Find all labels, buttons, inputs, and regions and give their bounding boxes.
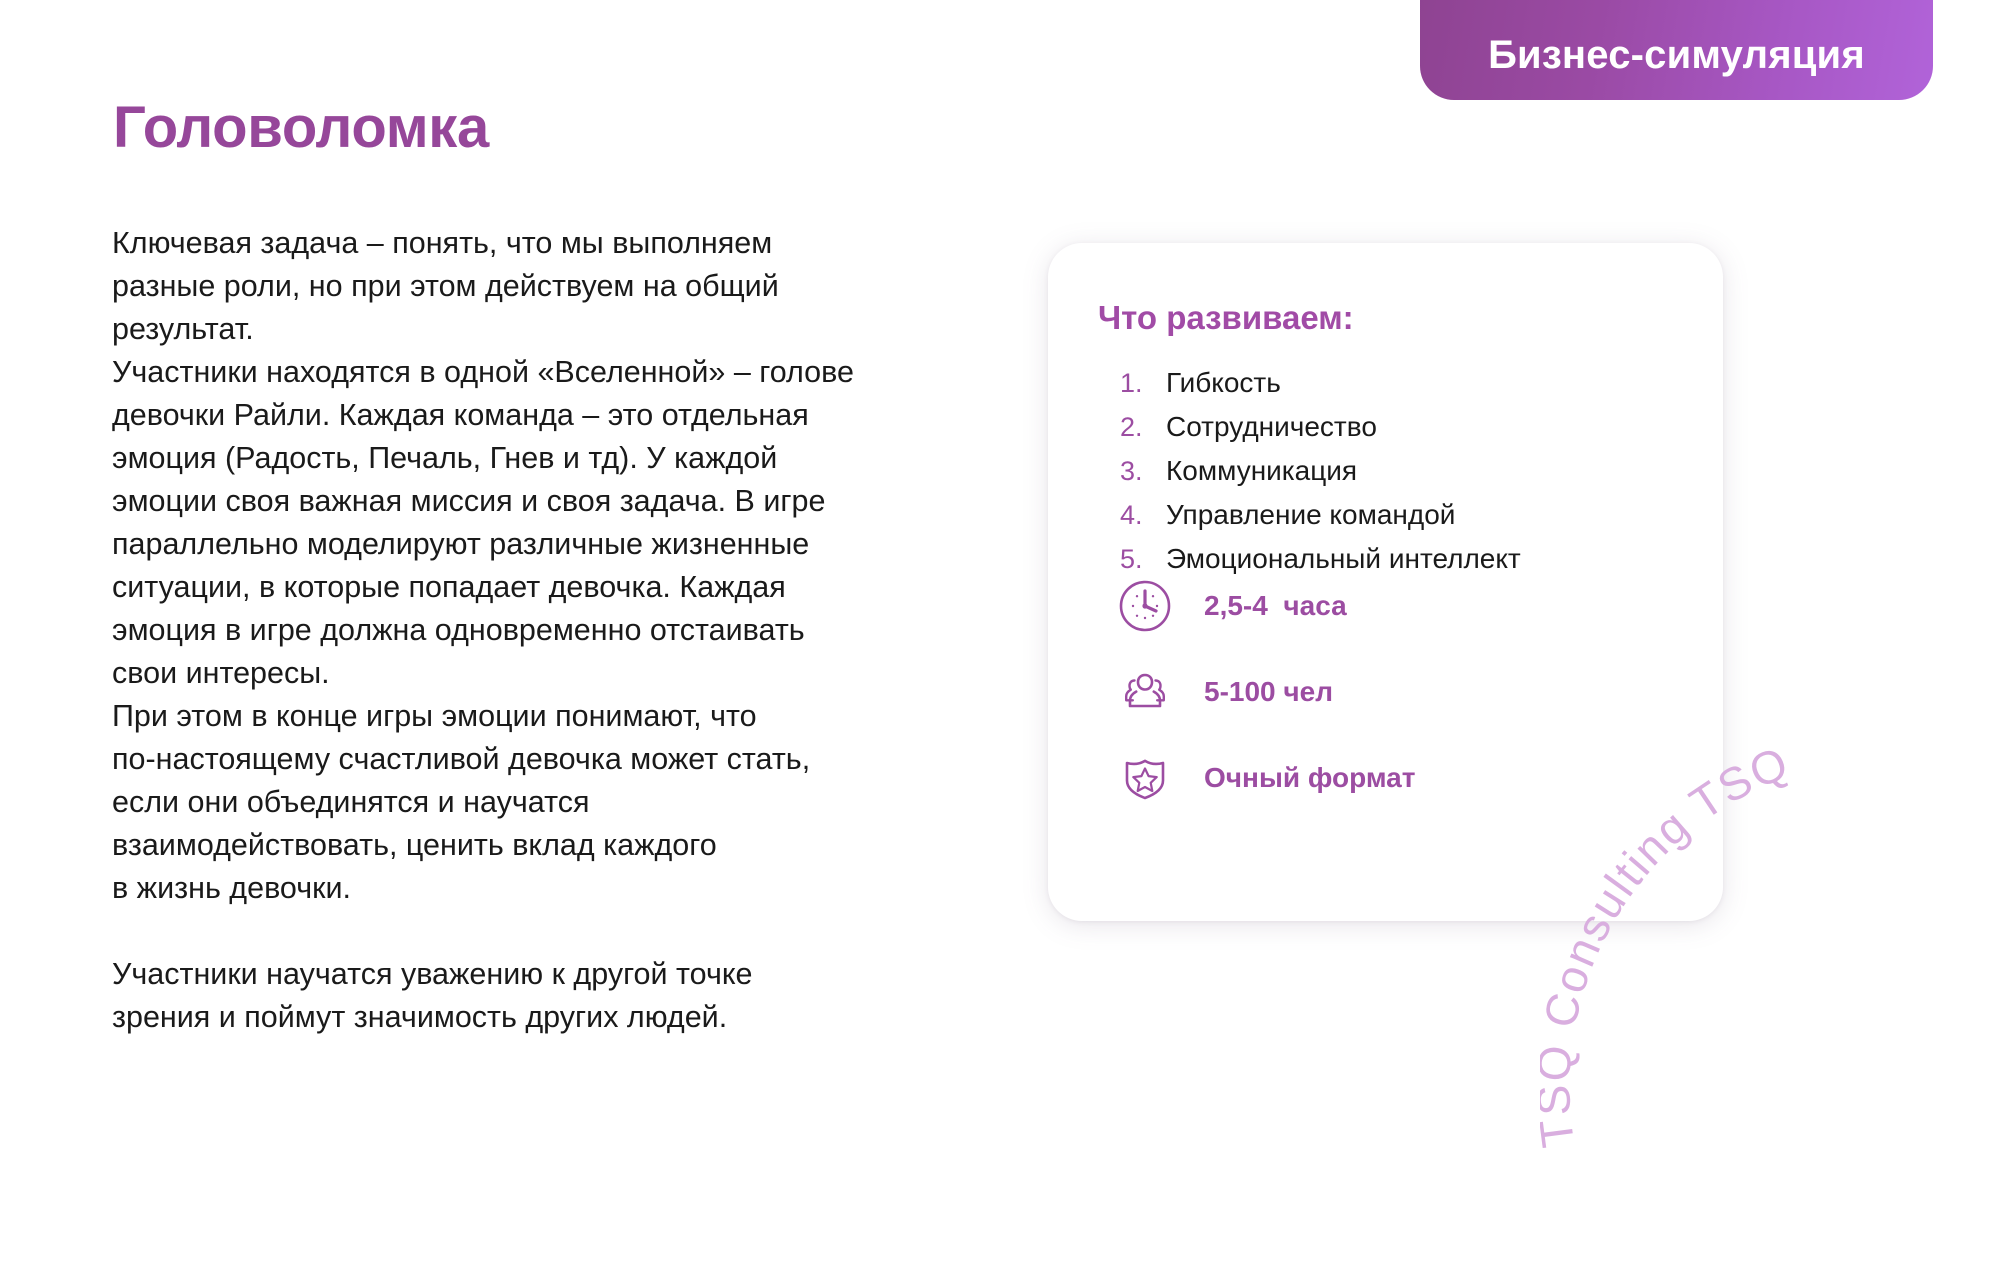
list-item: 4. Управление командой [1120, 493, 1521, 537]
meta-participants-label: 5-100 чел [1204, 676, 1333, 708]
meta-row-participants: 5-100 чел [1114, 649, 1674, 735]
list-item-number: 4. [1120, 494, 1166, 537]
people-icon [1114, 664, 1176, 720]
list-item: 2. Сотрудничество [1120, 405, 1521, 449]
list-item-label: Гибкость [1166, 361, 1281, 404]
meta-row-duration: 2,5-4 часа [1114, 563, 1674, 649]
meta-duration-label: 2,5-4 часа [1204, 590, 1347, 622]
list-item-number: 3. [1120, 450, 1166, 493]
card-heading: Что развиваем: [1098, 299, 1354, 337]
list-item: 3. Коммуникация [1120, 449, 1521, 493]
meta-format-label: Очный формат [1204, 762, 1415, 794]
list-item: 1. Гибкость [1120, 361, 1521, 405]
list-item-label: Коммуникация [1166, 449, 1357, 492]
body-paragraph-2: Участники научатся уважению к другой точ… [112, 953, 1012, 1039]
list-item-number: 1. [1120, 362, 1166, 405]
shield-star-icon [1114, 750, 1176, 806]
body-paragraph-1: Ключевая задача – понять, что мы выполня… [112, 222, 1012, 910]
meta-rows: 2,5-4 часа 5-100 чел [1114, 563, 1674, 821]
page-title: Головоломка [113, 94, 489, 161]
clock-icon [1114, 578, 1176, 634]
paragraph-spacer [112, 910, 1012, 953]
meta-row-format: Очный формат [1114, 735, 1674, 821]
info-card: Что развиваем: 1. Гибкость 2. Сотрудниче… [1048, 243, 1723, 921]
list-item-label: Управление командой [1166, 493, 1455, 536]
list-item-label: Сотрудничество [1166, 405, 1377, 448]
skills-list: 1. Гибкость 2. Сотрудничество 3. Коммуни… [1120, 361, 1521, 581]
body-copy: Ключевая задача – понять, что мы выполня… [112, 222, 1012, 1039]
category-badge: Бизнес-симуляция [1420, 0, 1933, 100]
category-badge-label: Бизнес-симуляция [1488, 33, 1865, 78]
list-item-number: 2. [1120, 406, 1166, 449]
